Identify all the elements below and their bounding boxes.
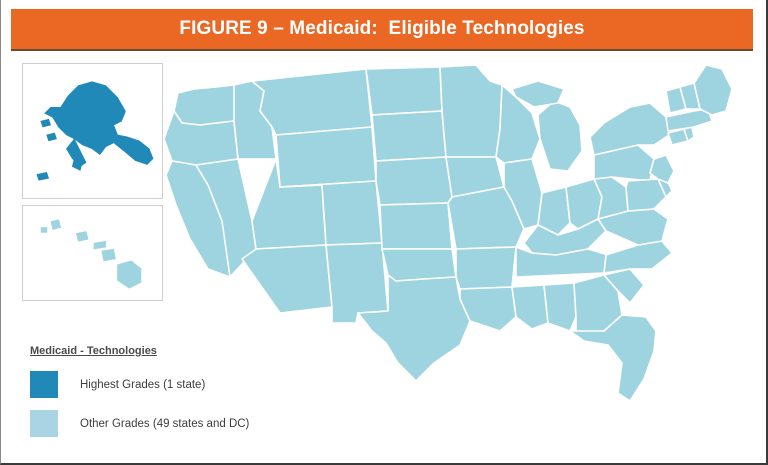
state-ak (45, 82, 153, 165)
state-ok (382, 249, 456, 281)
legend: Medicaid - Technologies Highest Grades (… (30, 345, 330, 449)
hi-maui (102, 249, 116, 261)
state-ms (512, 285, 548, 329)
hi-molokai (94, 241, 106, 249)
hawaii-map (23, 206, 162, 300)
state-az (242, 245, 332, 313)
alaska-inset (22, 63, 163, 199)
legend-label-other: Other Grades (49 states and DC) (80, 418, 249, 430)
state-ar (456, 247, 516, 289)
state-al (544, 283, 576, 331)
page-title: FIGURE 9 – Medicaid: Eligible Technologi… (179, 18, 584, 40)
map-area: Medicaid - Technologies Highest Grades (… (0, 55, 766, 463)
legend-label-highest: Highest Grades (1 state) (80, 379, 205, 391)
legend-swatch-other (30, 410, 58, 437)
hawaii-inset (22, 205, 163, 301)
ak-island-1 (41, 119, 51, 127)
state-ny (590, 103, 672, 155)
ak-island-3 (37, 172, 49, 180)
state-me (694, 65, 732, 115)
hi-big-island (117, 261, 141, 288)
state-nd (366, 67, 442, 115)
legend-swatch-highest (30, 371, 58, 398)
state-ks (380, 203, 452, 249)
hi-niihau (41, 228, 47, 233)
ak-island-2 (47, 133, 57, 141)
state-mt (252, 69, 372, 135)
figure-title-banner: FIGURE 9 – Medicaid: Eligible Technologi… (11, 9, 753, 51)
legend-item-other: Other Grades (49 states and DC) (30, 410, 330, 437)
legend-title: Medicaid - Technologies (30, 345, 330, 357)
state-nc (604, 241, 672, 273)
state-sd (372, 111, 446, 161)
state-ne (376, 157, 452, 205)
state-wy (276, 127, 376, 187)
legend-item-highest: Highest Grades (1 state) (30, 371, 330, 398)
state-mi (538, 101, 582, 171)
state-wa (174, 85, 236, 125)
figure-container: FIGURE 9 – Medicaid: Eligible Technologi… (0, 0, 768, 465)
alaska-map (23, 64, 162, 198)
hi-kauai (51, 220, 61, 230)
hi-oahu (76, 231, 88, 241)
state-mn (440, 65, 502, 157)
